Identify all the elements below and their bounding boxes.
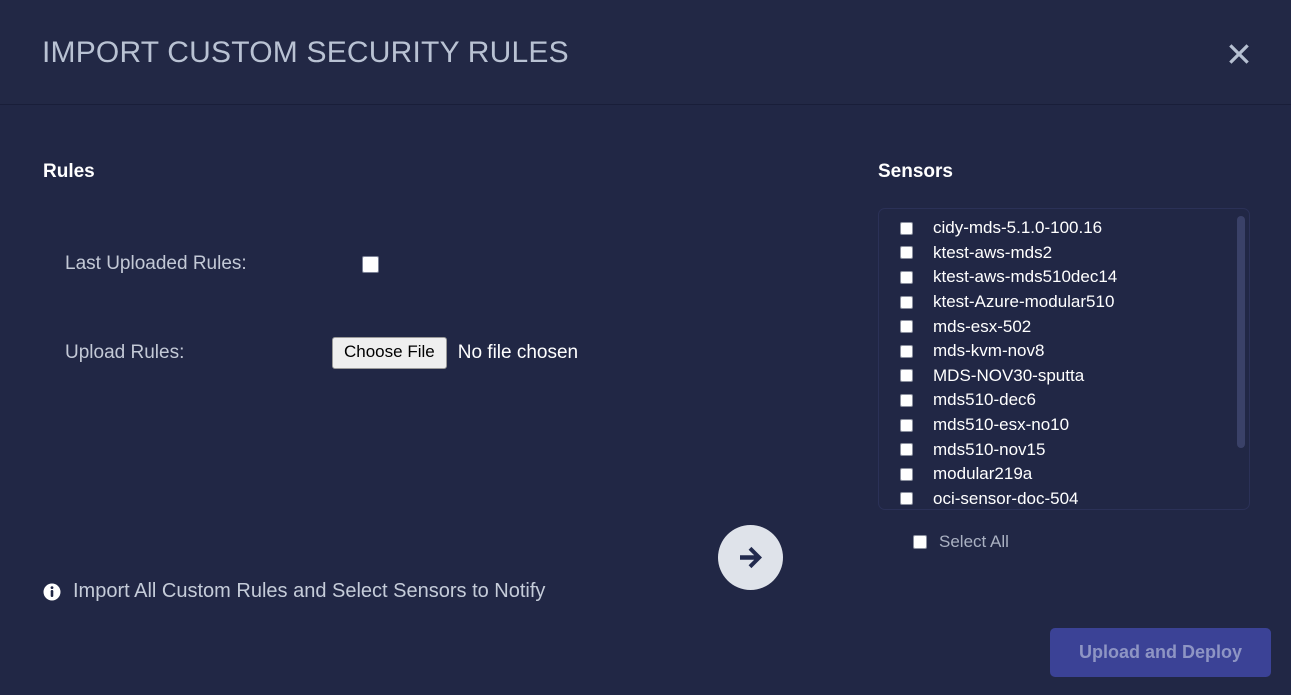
sensor-checkbox[interactable] (900, 492, 913, 505)
sensor-checkbox[interactable] (900, 246, 913, 259)
sensor-label: ktest-Azure-modular510 (933, 292, 1114, 312)
sensor-list-item[interactable]: ktest-Azure-modular510 (879, 290, 1250, 315)
close-icon[interactable] (1219, 34, 1259, 74)
last-uploaded-rules-label: Last Uploaded Rules: (65, 253, 362, 275)
file-status-text: No file chosen (458, 342, 578, 364)
sensor-checkbox[interactable] (900, 296, 913, 309)
sensor-label: modular219a (933, 464, 1032, 484)
dialog-header: IMPORT CUSTOM SECURITY RULES (0, 0, 1291, 105)
arrow-right-icon[interactable] (718, 525, 783, 590)
sensor-label: cidy-mds-5.1.0-100.16 (933, 218, 1102, 238)
rules-section-heading: Rules (43, 161, 95, 183)
sensor-checkbox[interactable] (900, 222, 913, 235)
sensor-list-item[interactable]: mds510-esx-no10 (879, 413, 1250, 438)
sensor-checkbox[interactable] (900, 468, 913, 481)
sensor-list: cidy-mds-5.1.0-100.16ktest-aws-mds2ktest… (878, 208, 1250, 510)
sensor-list-item[interactable]: mds-esx-502 (879, 314, 1250, 339)
sensor-list-item[interactable]: modular219a (879, 462, 1250, 487)
sensor-label: MDS-NOV30-sputta (933, 366, 1084, 386)
sensor-list-scrollbar[interactable] (1237, 214, 1245, 506)
sensor-checkbox[interactable] (900, 345, 913, 358)
sensor-label: ktest-aws-mds2 (933, 243, 1052, 263)
select-all-row[interactable]: Select All (913, 532, 1009, 552)
sensor-list-item[interactable]: mds-kvm-nov8 (879, 339, 1250, 364)
sensor-list-item[interactable]: ktest-aws-mds510dec14 (879, 265, 1250, 290)
sensor-label: mds-kvm-nov8 (933, 341, 1044, 361)
sensor-label: oci-sensor-doc-504 (933, 489, 1079, 509)
sensor-checkbox[interactable] (900, 394, 913, 407)
sensor-list-item[interactable]: oci-sensor-doc-504 (879, 487, 1250, 510)
last-uploaded-rules-row: Last Uploaded Rules: (65, 253, 379, 275)
info-text: Import All Custom Rules and Select Senso… (73, 580, 545, 603)
page-title: IMPORT CUSTOM SECURITY RULES (42, 36, 569, 70)
sensor-list-item[interactable]: cidy-mds-5.1.0-100.16 (879, 216, 1250, 241)
sensor-checkbox[interactable] (900, 369, 913, 382)
sensors-section-heading: Sensors (878, 161, 953, 183)
sensor-checkbox[interactable] (900, 320, 913, 333)
sensor-list-item[interactable]: ktest-aws-mds2 (879, 241, 1250, 266)
sensor-checkbox[interactable] (900, 419, 913, 432)
sensor-list-scroll-area[interactable]: cidy-mds-5.1.0-100.16ktest-aws-mds2ktest… (879, 209, 1250, 510)
file-input[interactable]: Choose File No file chosen (332, 337, 578, 369)
sensor-label: mds510-nov15 (933, 440, 1045, 460)
sensor-list-item[interactable]: mds510-dec6 (879, 388, 1250, 413)
sensor-list-item[interactable]: MDS-NOV30-sputta (879, 364, 1250, 389)
last-uploaded-rules-checkbox[interactable] (362, 256, 379, 273)
info-circle-icon (43, 583, 61, 601)
sensor-checkbox[interactable] (900, 443, 913, 456)
select-all-label: Select All (939, 532, 1009, 552)
sensor-checkbox[interactable] (900, 271, 913, 284)
info-row: Import All Custom Rules and Select Senso… (43, 580, 545, 603)
sensor-label: mds510-dec6 (933, 390, 1036, 410)
import-custom-security-rules-dialog: IMPORT CUSTOM SECURITY RULES Rules Last … (0, 0, 1291, 695)
sensor-label: ktest-aws-mds510dec14 (933, 267, 1117, 287)
upload-rules-row: Upload Rules: Choose File No file chosen (65, 337, 578, 369)
upload-rules-label: Upload Rules: (65, 342, 332, 364)
upload-and-deploy-button[interactable]: Upload and Deploy (1050, 628, 1271, 677)
choose-file-button[interactable]: Choose File (332, 337, 447, 369)
select-all-checkbox[interactable] (913, 535, 927, 549)
dialog-body: Rules Last Uploaded Rules: Upload Rules:… (0, 105, 1291, 695)
sensor-list-item[interactable]: mds510-nov15 (879, 437, 1250, 462)
sensor-label: mds-esx-502 (933, 317, 1031, 337)
scrollbar-thumb[interactable] (1237, 216, 1245, 448)
sensor-label: mds510-esx-no10 (933, 415, 1069, 435)
